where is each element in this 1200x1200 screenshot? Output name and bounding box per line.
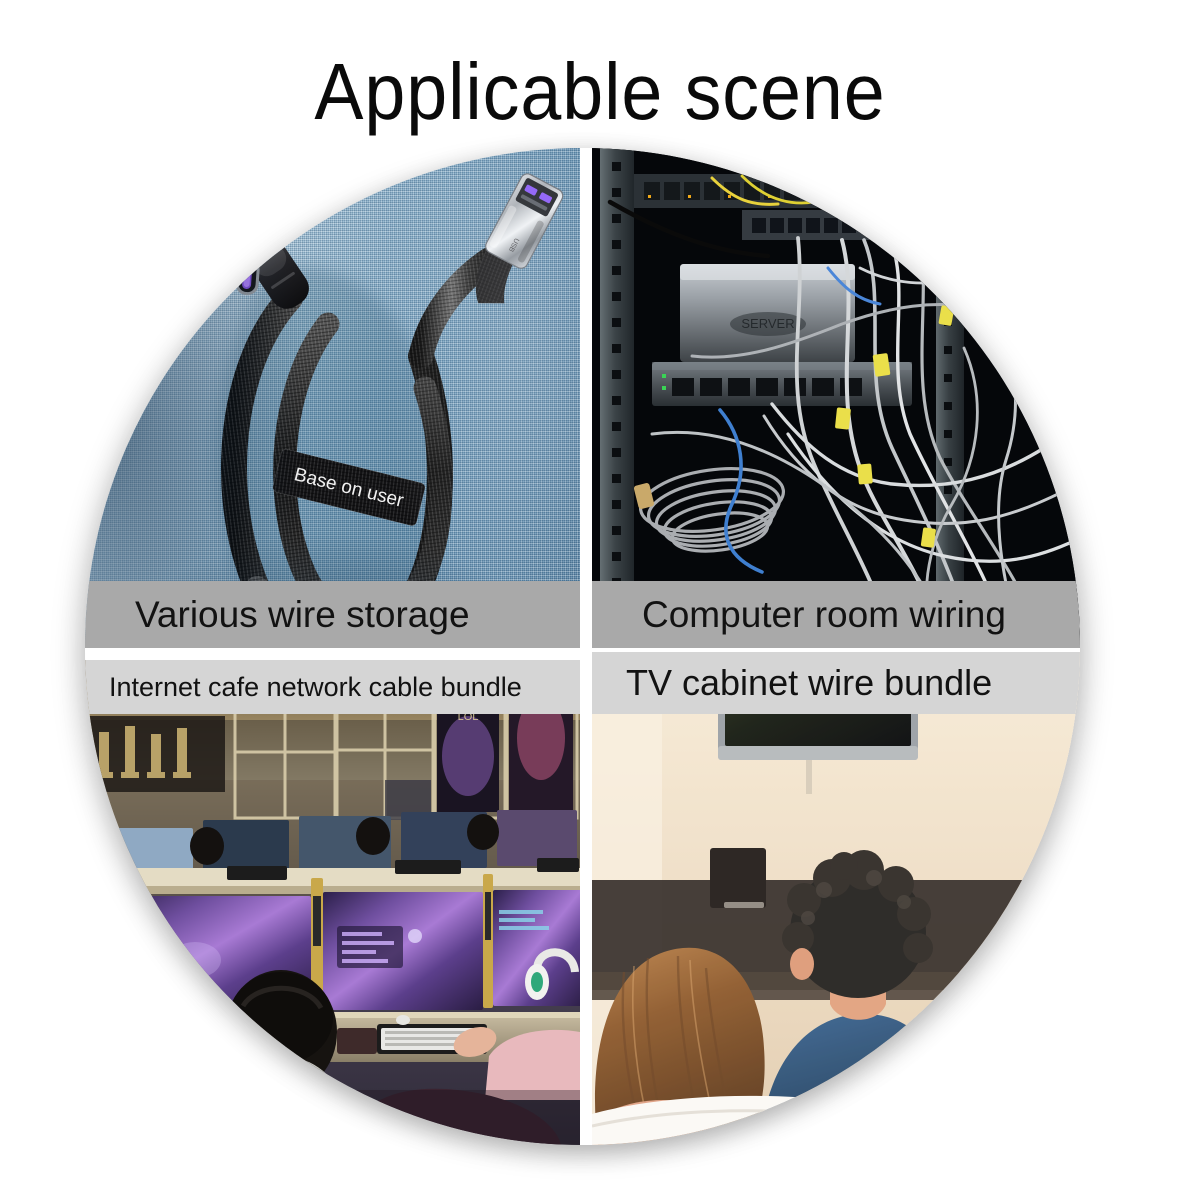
caption-tv-cabinet: TV cabinet wire bundle — [592, 652, 1080, 714]
quadrant-computer-room-wiring[interactable]: TP-LINK SERVER — [592, 148, 1080, 648]
caption-label: Various wire storage — [135, 594, 470, 636]
caption-label: Internet cafe network cable bundle — [109, 672, 522, 703]
caption-computer-room-wiring: Computer room wiring — [592, 581, 1080, 648]
usb-cable-illustration: USB Base on user — [85, 148, 580, 648]
quadrant-tv-cabinet[interactable]: TV cabinet wire bundle — [592, 652, 1080, 1145]
quadrant-internet-cafe[interactable]: LOL — [85, 660, 580, 1145]
photo-server-rack: TP-LINK SERVER — [592, 148, 1080, 648]
svg-text:USB: USB — [507, 237, 520, 253]
photo-couple-watching-tv — [592, 652, 1080, 1145]
server-rack-illustration: TP-LINK SERVER — [592, 148, 1080, 648]
caption-various-wire-storage: Various wire storage — [85, 581, 580, 648]
caption-label: TV cabinet wire bundle — [626, 662, 992, 704]
sofa-fold — [85, 148, 319, 648]
svg-text:SERVER: SERVER — [741, 316, 794, 331]
cable-strap-label: Base on user — [292, 464, 406, 512]
living-room-illustration — [592, 652, 1080, 1145]
internet-cafe-illustration: LOL — [85, 660, 580, 1145]
photo-cable-on-sofa: USB Base on user — [85, 148, 580, 648]
photo-internet-cafe: LOL — [85, 660, 580, 1145]
quadrant-various-wire-storage[interactable]: USB Base on user Various wire storage — [85, 148, 580, 648]
caption-label: Computer room wiring — [642, 594, 1006, 636]
svg-text:TP-LINK: TP-LINK — [914, 226, 949, 236]
page-title: Applicable scene — [48, 48, 1152, 136]
applicable-scene-collage: USB Base on user Various wire storage — [85, 148, 1080, 1145]
caption-internet-cafe: Internet cafe network cable bundle — [85, 660, 580, 714]
